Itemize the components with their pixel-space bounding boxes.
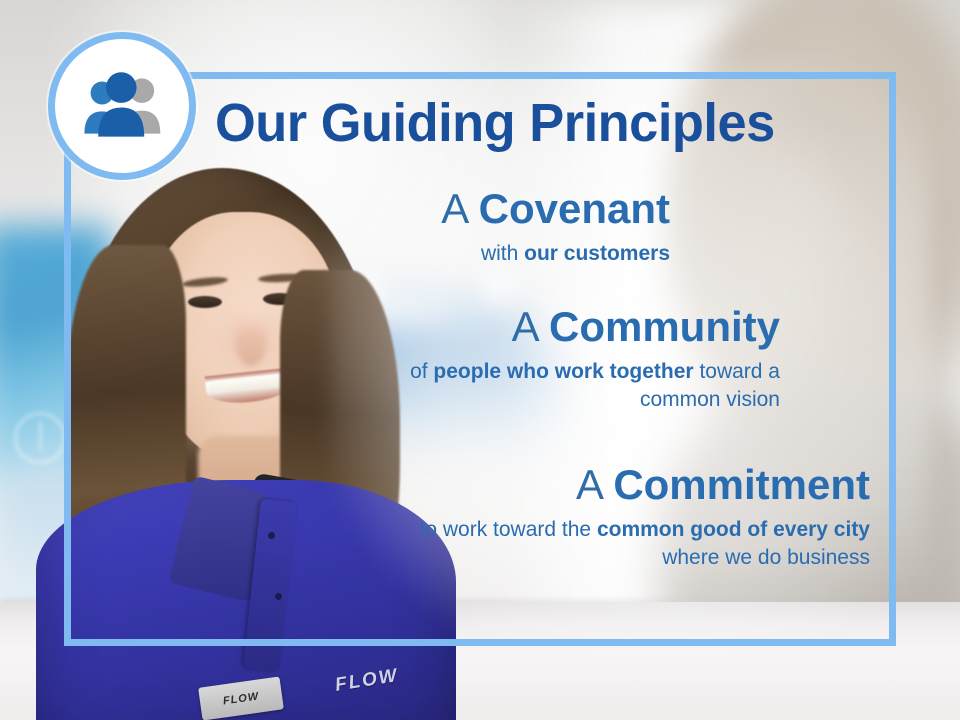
principle-community-heading: A Community	[340, 304, 780, 349]
principle-commitment-article: A	[576, 461, 602, 508]
name-badge-text: FLOW	[222, 690, 260, 707]
principle-commitment-keyword: Commitment	[613, 461, 870, 508]
blurred-customer-figure	[640, 0, 960, 530]
principle-community-subtext: of people who work together toward a com…	[340, 358, 780, 413]
principle-community-article: A	[512, 303, 538, 350]
principle-covenant-article: A	[441, 185, 467, 232]
principle-community: A Community of people who work together …	[340, 304, 780, 414]
principle-covenant-keyword: Covenant	[479, 185, 670, 232]
employee-eye-left	[188, 296, 222, 308]
principle-community-keyword: Community	[549, 303, 780, 350]
page-title: Our Guiding Principles	[215, 96, 846, 150]
employee-nose	[236, 322, 266, 366]
guiding-principles-graphic: FLOW FLOW Our Guiding Principles A	[0, 0, 960, 720]
principle-covenant-subtext: with our customers	[300, 240, 670, 268]
principle-covenant-heading: A Covenant	[300, 186, 670, 231]
people-group-badge	[48, 32, 196, 180]
employee-shirt-button-top	[268, 532, 275, 539]
employee-teeth	[209, 373, 288, 394]
principle-covenant: A Covenant with our customers	[300, 186, 670, 268]
employee-shirt-button-bottom	[275, 593, 282, 600]
principle-commitment-subtext: to work toward the common good of every …	[400, 516, 870, 571]
principle-commitment: A Commitment to work toward the common g…	[400, 462, 870, 572]
principle-commitment-heading: A Commitment	[400, 462, 870, 507]
people-group-icon	[76, 60, 168, 152]
